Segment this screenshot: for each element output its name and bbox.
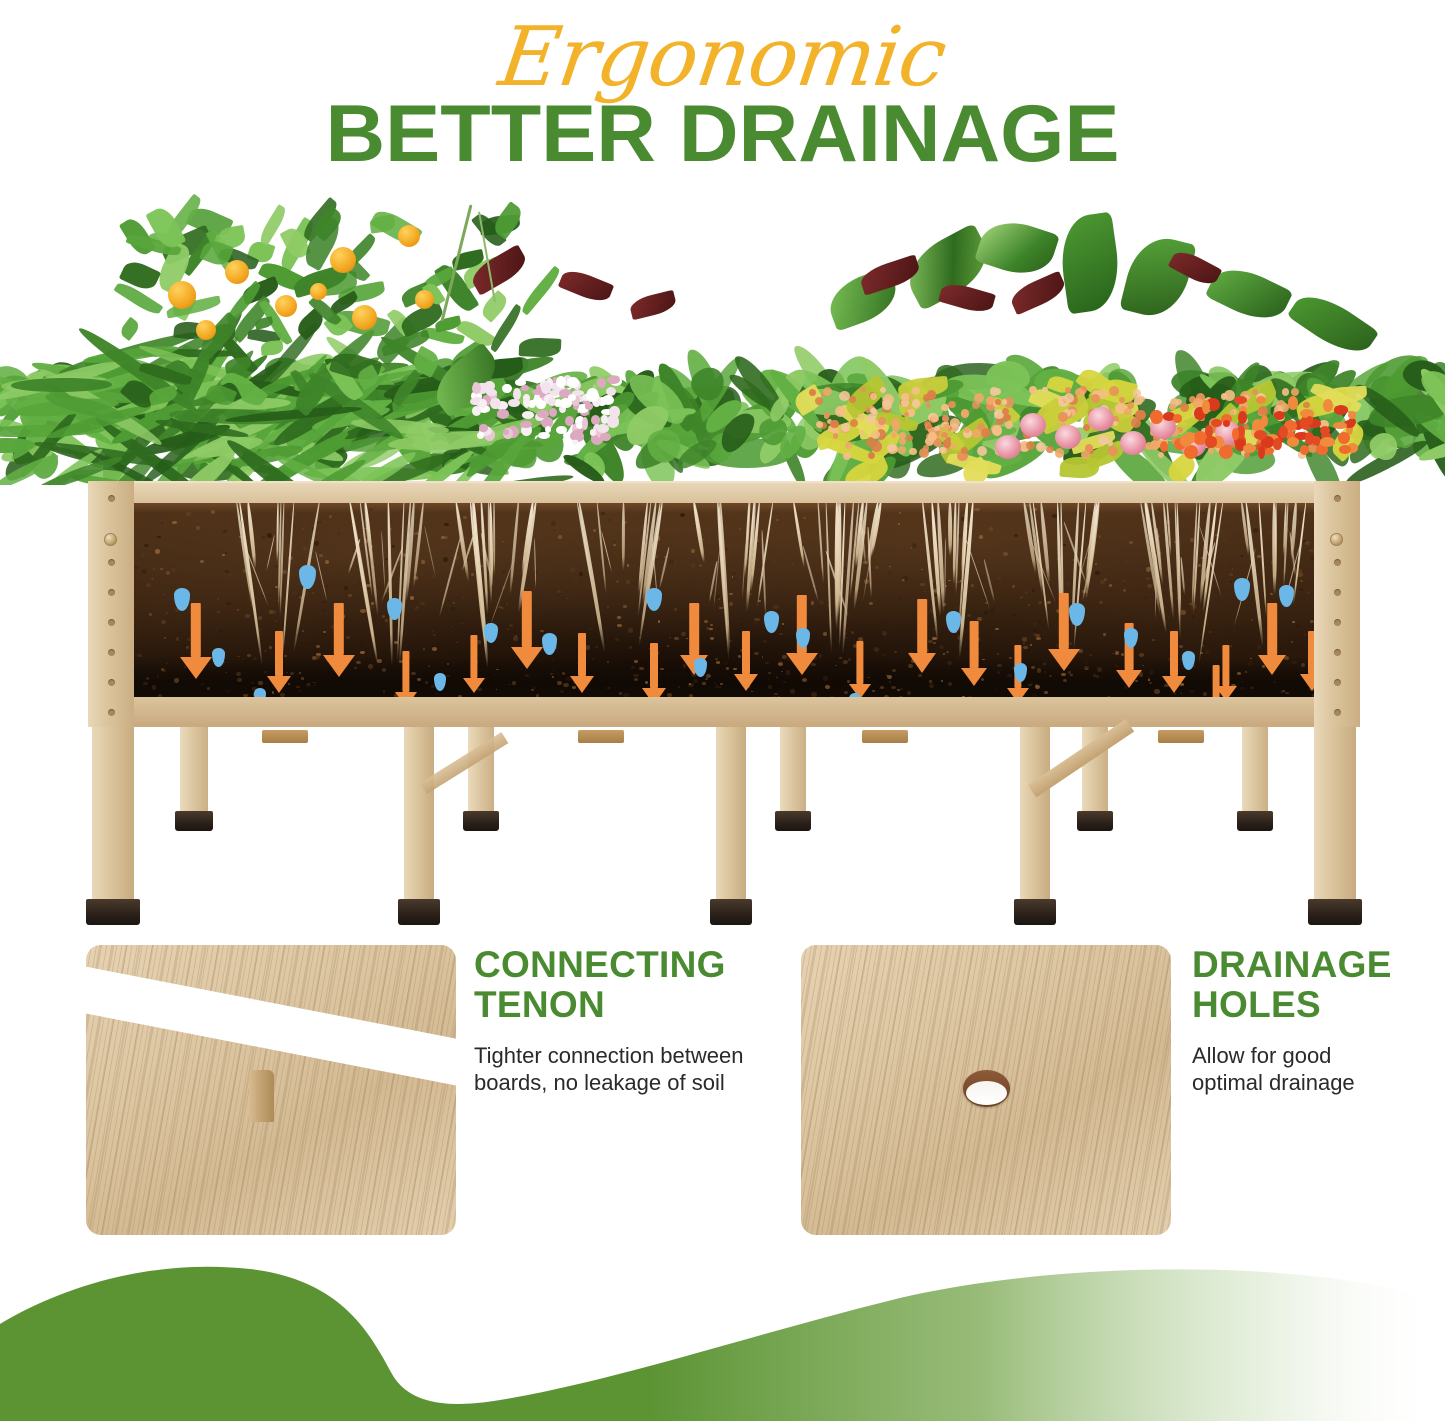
plant-rootlet [424, 526, 436, 578]
soil-particle [667, 645, 669, 647]
daisy-floret [565, 416, 573, 426]
soil-particle [496, 669, 498, 670]
kalanchoe-floret [961, 409, 969, 417]
soil-particle [617, 624, 621, 628]
soil-particle [418, 569, 420, 571]
kalanchoe-floret [850, 419, 858, 427]
kalanchoe-floret [858, 414, 863, 419]
begonia-floret [1274, 411, 1285, 420]
soil-particle [1018, 545, 1020, 546]
drainage-arrow-icon [1302, 631, 1314, 691]
calathea-leaf [1287, 284, 1380, 364]
soil-particle [971, 584, 974, 587]
soil-particle [385, 619, 388, 622]
soil-particle [1095, 563, 1098, 565]
kalanchoe-floret [1291, 388, 1299, 396]
kalanchoe-floret [961, 447, 968, 454]
soil-particle [196, 526, 200, 530]
burgundy-leaf [558, 266, 614, 306]
soil-particle [577, 548, 579, 549]
kalanchoe-floret [995, 399, 1001, 405]
soil-particle [312, 592, 314, 594]
soil-particle [161, 620, 166, 624]
plant-rootlet [658, 546, 669, 588]
soil-particle [421, 560, 424, 563]
soil-particle [623, 605, 626, 608]
soil-particle [739, 528, 742, 530]
soil-particle [360, 651, 365, 655]
soil-particle [714, 682, 716, 683]
soil-particle [310, 522, 313, 525]
soil-particle [229, 574, 231, 576]
soil-particle [551, 521, 556, 526]
soil-particle [1149, 682, 1152, 684]
soil-particle [879, 552, 883, 555]
begonia-floret [1256, 396, 1266, 403]
soil-particle [920, 583, 924, 587]
kalanchoe-floret [843, 452, 850, 459]
begonia-floret [1348, 411, 1356, 419]
soil-particle [227, 566, 229, 568]
begonia-floret [1150, 410, 1162, 424]
soil-particle [584, 516, 586, 517]
soil-particle [171, 568, 176, 572]
soil-particle [371, 602, 374, 605]
soil-particle [947, 661, 952, 665]
soil-particle [378, 588, 381, 590]
soil-particle [1283, 690, 1285, 691]
soil-particle [1241, 555, 1243, 557]
soil-particle [924, 591, 926, 592]
drainage-hole-detail-photo [801, 945, 1171, 1235]
soil-particle [715, 685, 719, 689]
soil-particle [502, 570, 506, 573]
soil-particle [1270, 593, 1273, 596]
soil-particle [773, 510, 778, 515]
soil-particle [601, 512, 605, 515]
kalanchoe-floret [1058, 412, 1068, 422]
soil-particle [368, 664, 373, 668]
soil-particle [172, 521, 177, 524]
soil-particle [176, 637, 180, 641]
soil-particle [689, 683, 691, 684]
soil-particle [435, 640, 437, 642]
soil-particle [575, 577, 577, 579]
soil-particle [1044, 691, 1047, 694]
soil-particle [1203, 692, 1207, 696]
soil-particle [1213, 643, 1216, 645]
kalanchoe-floret [891, 432, 897, 438]
soil-particle [190, 570, 193, 572]
soil-particle [292, 591, 296, 595]
soil-particle [245, 614, 250, 618]
callout-desc-line1: Allow for good [1192, 1042, 1445, 1069]
soil-particle [934, 598, 936, 599]
soil-particle [887, 675, 892, 679]
soil-particle [995, 628, 999, 630]
kalanchoe-floret [845, 442, 852, 449]
soil-particle [1233, 629, 1236, 632]
soil-particle [631, 582, 635, 585]
soil-particle [615, 638, 618, 641]
footer-wave-decoration [0, 1266, 1445, 1421]
water-droplet-icon [764, 611, 779, 633]
drainage-arrow-icon [269, 631, 289, 693]
soil-particle [420, 602, 424, 605]
citrus-fruit [275, 295, 297, 317]
planter-foot-cap [398, 899, 440, 925]
planter-foot-cap-rear [1237, 811, 1273, 831]
soil-particle [410, 596, 415, 600]
soil-particle [1153, 628, 1157, 632]
post-screw-hole [108, 679, 115, 686]
soil-particle [772, 559, 775, 562]
begonia-floret [1238, 411, 1247, 424]
soil-particle [1033, 629, 1037, 632]
soil-particle [996, 688, 998, 689]
daisy-floret [497, 409, 510, 419]
kalanchoe-floret [943, 424, 949, 430]
soil-particle [237, 678, 241, 682]
kalanchoe-floret [904, 412, 909, 417]
soil-particle [929, 684, 934, 688]
soil-particle [997, 653, 999, 655]
soil-particle [436, 693, 438, 695]
soil-particle [146, 677, 149, 680]
planter-post-right [1314, 481, 1360, 727]
tenon-tab [1158, 730, 1204, 743]
soil-particle [939, 645, 944, 649]
citrus-leaf [519, 337, 562, 358]
soil-particle [444, 536, 448, 538]
soil-particle [1029, 661, 1031, 663]
soil-particle [160, 568, 163, 570]
soil-particle [303, 528, 305, 529]
soil-particle [557, 681, 562, 685]
plant-foliage [0, 185, 1445, 485]
soil-particle [432, 586, 435, 588]
daisy-floret [549, 408, 557, 417]
soil-particle [142, 569, 147, 574]
soil-particle [1148, 679, 1150, 680]
kalanchoe-floret [1046, 446, 1053, 453]
soil-particle [283, 598, 285, 599]
kalanchoe-floret [928, 432, 937, 441]
planter-leg-rear [1242, 727, 1268, 815]
rose-flower [995, 435, 1021, 459]
soil-particle [750, 593, 753, 596]
post-screw-hole [108, 619, 115, 626]
header: Ergonomic BETTER DRAINAGE [0, 0, 1445, 180]
soil-particle [691, 549, 694, 552]
soil-particle [1044, 671, 1046, 673]
soil-particle [390, 528, 392, 529]
soil-particle [223, 530, 227, 533]
kalanchoe-floret [849, 396, 855, 402]
kalanchoe-floret [994, 388, 1001, 395]
soil-particle [674, 637, 679, 640]
soil-particle [948, 580, 951, 582]
rose-flower [1055, 425, 1081, 449]
planter-hero-image [0, 185, 1445, 940]
soil-particle [329, 515, 332, 518]
soil-particle [1228, 629, 1232, 633]
soil-particle [899, 649, 903, 653]
soil-particle [1181, 610, 1186, 614]
soil-particle [225, 552, 227, 554]
soil-particle [383, 690, 385, 692]
soil-particle [451, 607, 455, 611]
plant-rootlet [439, 534, 463, 617]
kalanchoe-floret [816, 421, 823, 428]
kalanchoe-floret [1303, 402, 1310, 409]
soil-particle [301, 677, 304, 679]
soil-particle [845, 637, 847, 639]
soil-particle [456, 642, 458, 644]
planter-foot-cap [86, 899, 140, 925]
begonia-floret [1338, 432, 1349, 444]
soil-particle [1144, 596, 1148, 599]
soil-particle [768, 685, 772, 688]
soil-particle [888, 571, 893, 575]
soil-particle [842, 657, 845, 659]
soil-particle [1118, 613, 1123, 617]
begonia-floret [1334, 405, 1348, 414]
plant-root [1274, 503, 1276, 585]
soil-particle [1012, 614, 1015, 617]
planter-foot-cap [1014, 899, 1056, 925]
soil-particle [141, 553, 145, 557]
kalanchoe-floret [1091, 394, 1100, 403]
daisy-floret [490, 398, 501, 409]
drainage-arrow-icon [644, 643, 664, 699]
calathea-leaf [974, 213, 1060, 283]
soil-particle [889, 566, 891, 567]
citrus-leaf [519, 266, 564, 316]
soil-particle [1148, 677, 1150, 679]
arrow-shaft [742, 631, 750, 674]
soil-particle [734, 577, 737, 580]
soil-particle [264, 671, 266, 673]
soil-particle [282, 570, 286, 574]
plant-root [622, 503, 626, 571]
soil-particle [790, 689, 795, 694]
arrow-shaft [402, 651, 409, 692]
soil-particle [1142, 665, 1144, 666]
planter-leg [716, 727, 746, 903]
kalanchoe-floret [906, 435, 913, 442]
soil-particle [943, 653, 945, 655]
post-screw-hole [1334, 559, 1341, 566]
soil-particle [736, 621, 738, 622]
rose-flower [1020, 413, 1046, 437]
arrow-head [511, 647, 543, 669]
soil-particle [669, 560, 674, 564]
kalanchoe-floret [981, 428, 991, 438]
soil-particle [592, 658, 594, 659]
soil-particle [729, 593, 733, 595]
daisy-floret [522, 411, 534, 419]
kalanchoe-floret [992, 425, 1003, 436]
soil-particle [325, 585, 328, 587]
soil-particle [417, 678, 421, 681]
kalanchoe-floret [1258, 406, 1268, 416]
soil-particle [423, 648, 426, 650]
soil-particle [686, 590, 691, 595]
soil-particle [1084, 660, 1089, 665]
citrus-fruit [330, 247, 356, 273]
soil-particle [779, 633, 783, 636]
soil-particle [990, 608, 995, 613]
soil-particle [338, 532, 340, 534]
soil-particle [716, 594, 720, 598]
soil-particle [1108, 629, 1110, 630]
soil-particle [753, 622, 757, 626]
soil-particle [226, 689, 231, 693]
kalanchoe-floret [830, 420, 838, 428]
callout-title-line2: HOLES [1192, 985, 1445, 1025]
soil-particle [265, 576, 267, 577]
soil-particle [626, 580, 630, 583]
arrow-shaft [970, 621, 979, 668]
soil-particle [303, 547, 306, 550]
soil-particle [155, 549, 160, 554]
soil-particle [225, 570, 229, 573]
post-screw-hole [1334, 495, 1341, 502]
soil-particle [570, 567, 575, 572]
tenon-tab [862, 730, 908, 743]
water-droplet-icon [1234, 578, 1250, 601]
soil-particle [443, 557, 448, 562]
soil-particle [414, 607, 418, 610]
water-droplet-icon [542, 633, 557, 655]
soil-particle [164, 594, 166, 595]
soil-particle [706, 627, 710, 630]
screw-icon [104, 533, 117, 546]
soil-particle [1291, 641, 1293, 643]
soil-particle [299, 672, 301, 674]
soil-particle [207, 687, 211, 690]
callout-desc-line2: optimal drainage [1192, 1069, 1445, 1096]
soil-particle [211, 510, 215, 514]
soil-particle [754, 618, 759, 622]
post-screw-hole [1334, 679, 1341, 686]
callout-title-line1: DRAINAGE [1192, 945, 1445, 985]
plant-root [509, 503, 520, 595]
water-droplet-icon [646, 588, 662, 611]
soil-particle [580, 605, 582, 606]
soil-particle [356, 661, 361, 664]
post-screw-hole [1334, 619, 1341, 626]
soil-particle [627, 564, 630, 567]
soil-particle [819, 600, 824, 605]
tenon-tab [262, 730, 308, 743]
arrow-shaft [522, 591, 532, 647]
soil-particle [607, 661, 609, 663]
soil-particle [1030, 644, 1032, 646]
drainage-arrow-icon [963, 621, 985, 687]
soil-particle [542, 603, 545, 605]
soil-particle [816, 546, 818, 547]
soil-particle [1125, 560, 1127, 562]
arrow-head [1048, 649, 1080, 671]
soil-particle [556, 593, 561, 597]
soil-particle [319, 521, 321, 523]
daisy-floret [597, 378, 606, 387]
daisy-floret [502, 384, 511, 393]
soil-particle [164, 637, 166, 639]
soil-particle [289, 621, 294, 624]
arrow-shaft [1059, 593, 1069, 649]
soil-particle [1248, 661, 1253, 665]
citrus-fruit [196, 320, 216, 340]
daisy-floret [597, 424, 610, 433]
soil-particle [461, 623, 463, 624]
citrus-fruit [225, 260, 249, 284]
post-screw-hole [108, 559, 115, 566]
soil-particle [1209, 631, 1211, 633]
soil-particle [1230, 581, 1233, 584]
planter-leg [404, 727, 434, 903]
soil-particle [259, 628, 263, 631]
soil-particle [631, 666, 634, 669]
soil-particle [393, 652, 396, 655]
kalanchoe-floret [912, 387, 920, 395]
drainage-arrow-icon [910, 599, 934, 673]
kalanchoe-floret [1131, 418, 1141, 428]
soil-particle [451, 626, 453, 627]
soil-particle [767, 677, 771, 681]
soil-particle [382, 615, 385, 618]
soil-particle [1251, 619, 1254, 621]
drainage-hole-opening [966, 1081, 1007, 1105]
soil-particle [1241, 681, 1243, 682]
kalanchoe-floret [871, 430, 880, 439]
soil-particle [607, 606, 609, 608]
soil-particle [314, 541, 319, 546]
drainage-arrow-icon [183, 603, 209, 679]
soil-particle [1296, 625, 1299, 627]
soil-particle [998, 577, 1001, 579]
lime-leaf [1060, 456, 1100, 480]
soil-particle [540, 630, 543, 632]
kalanchoe-floret [891, 418, 900, 427]
soil-particle [777, 602, 780, 604]
soil-particle [884, 622, 887, 624]
soil-particle [628, 628, 633, 633]
drainage-arrow-icon [326, 603, 352, 677]
feature-details: CONNECTING TENON Tighter connection betw… [0, 945, 1445, 1245]
soil-particle [634, 660, 638, 663]
soil-particle [655, 555, 658, 557]
begonia-floret [1323, 399, 1333, 412]
soil-particle [613, 544, 616, 546]
soil-particle [1159, 627, 1162, 629]
soil-particle [1146, 577, 1150, 580]
soil-particle [258, 681, 263, 684]
soil-particle [166, 571, 170, 574]
soil-particle [237, 609, 239, 611]
soil-particle [1134, 516, 1136, 517]
begonia-floret [1273, 438, 1282, 451]
soil-particle [1245, 671, 1248, 673]
daisy-floret [585, 403, 593, 409]
soil-particle [763, 640, 767, 643]
soil-particle [348, 594, 352, 598]
soil-particle [1097, 667, 1102, 672]
soil-particle [579, 572, 584, 576]
soil-particle [431, 630, 434, 632]
